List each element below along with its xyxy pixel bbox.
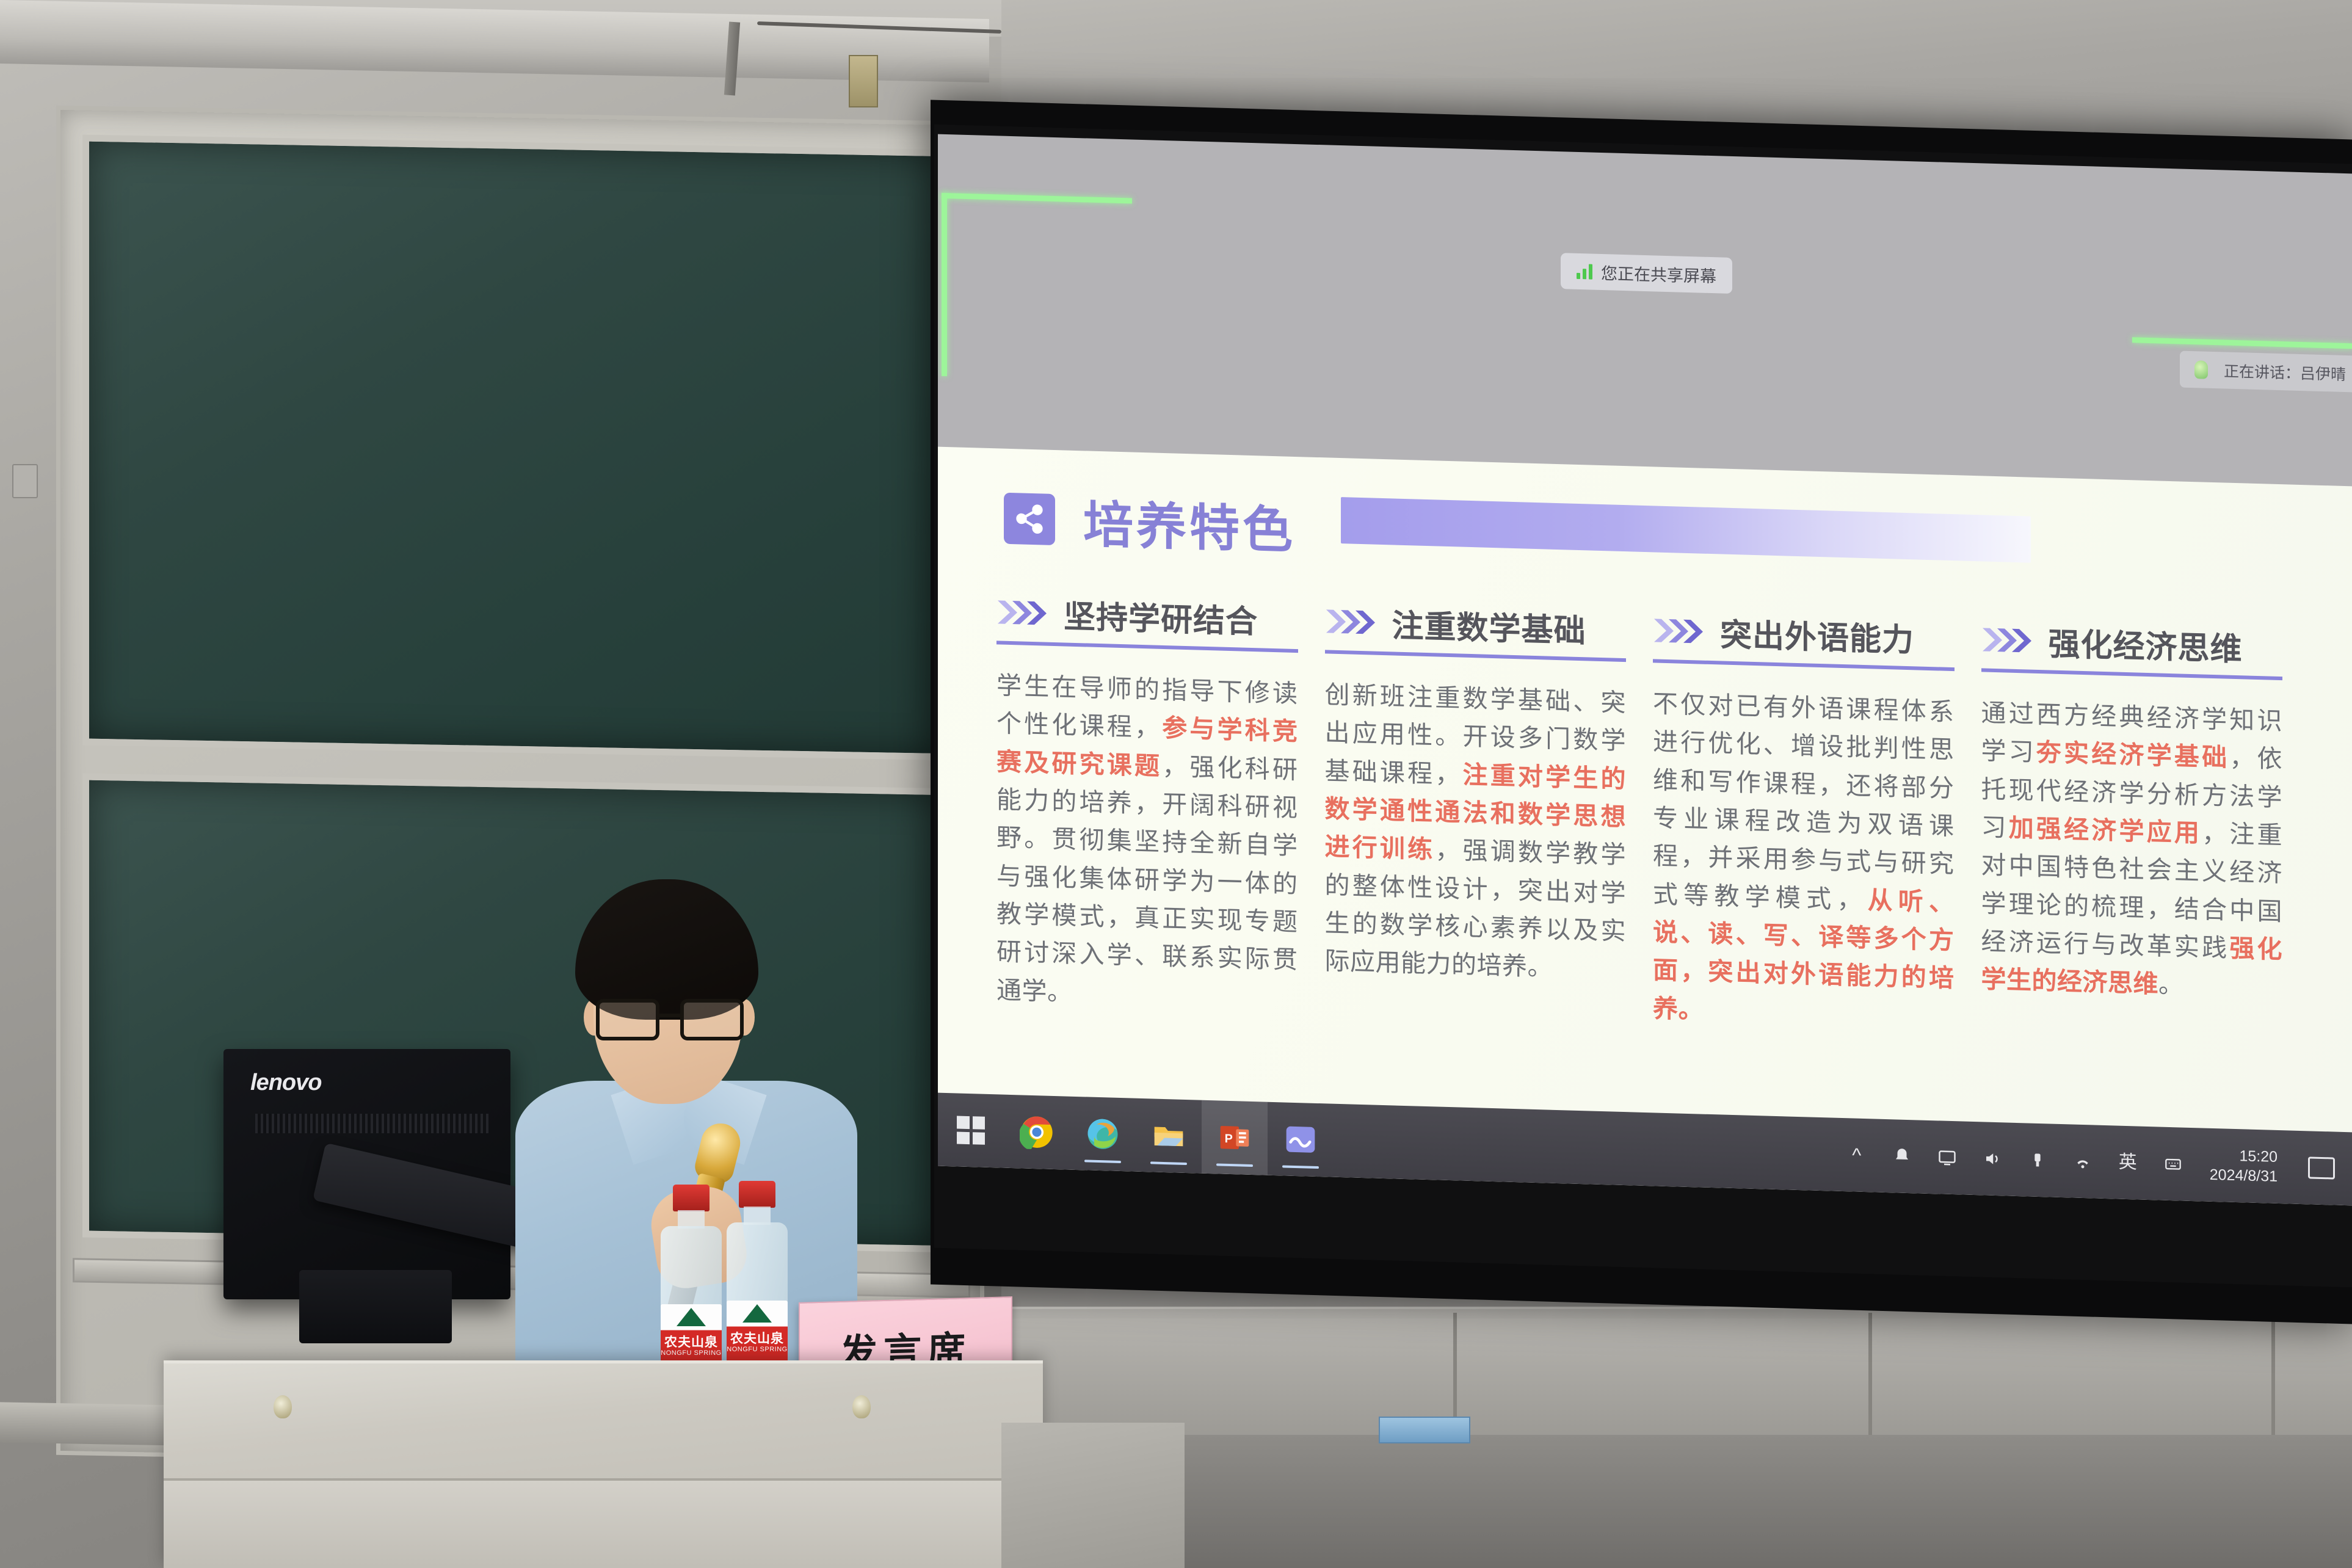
chevron-up-icon[interactable]: ^ [1845,1145,1869,1165]
start-button[interactable] [938,1093,1004,1168]
chevrons-right-icon [996,598,1050,627]
shared-screen[interactable]: 您正在共享屏幕 正在讲话：吕伊晴 培养特色 [938,134,2352,1206]
signal-bars-icon [1577,264,1592,280]
lens-left [596,999,659,1040]
podium-lock [274,1395,292,1418]
slide-column-3: 突出外语能力 不仅对已有外语课程体系进行优化、增设批判性思维和写作课程，还将部分… [1653,607,1981,1036]
podium [164,1360,1043,1568]
column-2-header: 注重数学基础 [1325,598,1627,662]
column-4-body: 通过西方经典经济学知识学习夯实经济学基础，依托现代经济学分析方法学习加强经济学应… [1981,694,2283,1006]
monitor-brand-label: lenovo [250,1070,321,1096]
floor [1038,1435,2352,1568]
usb-icon[interactable] [2025,1150,2050,1169]
edge-icon [1086,1116,1120,1152]
bottle-brand-en: NONGFU SPRING [661,1349,722,1357]
active-speaker-label: 正在讲话：吕伊晴 [2224,359,2346,385]
water-bottle: 农夫山泉 NONGFU SPRING [725,1181,789,1388]
folder-icon [1152,1118,1186,1153]
share-banner-label: 您正在共享屏幕 [1601,260,1716,287]
taskbar-item-edge[interactable] [1070,1097,1136,1172]
monitor-stand [299,1270,452,1343]
column-1-header: 坚持学研结合 [996,589,1298,653]
column-4-text-highlight-1: 夯实经济学基础 [2036,738,2229,772]
volume-icon[interactable] [1980,1149,2005,1168]
screenshot-stage: 您正在共享屏幕 正在讲话：吕伊晴 培养特色 [0,0,2352,1568]
column-2-body: 创新班注重数学基础、突出应用性。开设多门数学基础课程，注重对学生的数学通性通法和… [1325,675,1627,988]
taskbar-clock[interactable]: 15:20 2024/8/31 [2210,1145,2278,1186]
active-speaker-indicator[interactable]: 正在讲话：吕伊晴 [2180,350,2352,393]
column-3-body: 不仅对已有外语课程体系进行优化、增设批判性思维和写作课程，还将部分专业课程改造为… [1653,684,1955,1036]
display-icon[interactable] [1935,1148,1959,1167]
column-4-title: 强化经济思维 [2049,618,2243,669]
windows-logo-icon [957,1116,985,1145]
column-1-body: 学生在导师的指导下修读个性化课程，参与学科竞赛及研究课题，强化科研能力的培养，开… [996,666,1298,1017]
bottle-cap [739,1181,775,1208]
column-3-text-pre: 不仅对已有外语课程体系进行优化、增设批判性思维和写作课程，还将部分专业课程改造为… [1653,689,1955,913]
title-decoration-bar [1341,497,2031,563]
taskbar-item-file-explorer[interactable] [1136,1098,1202,1174]
column-1-text-post: ，强化科研能力的培养，开阔科研视野。贯彻集坚持全新自学与强化集体研学为一体的教学… [996,752,1298,1006]
slide-title-row: 培养特色 [1004,482,1296,562]
column-4-text-post: 。 [2158,970,2184,999]
notification-center-icon[interactable] [2308,1156,2335,1179]
column-4-header: 强化经济思维 [1981,616,2283,680]
wall-socket [12,464,38,498]
chrome-icon [1020,1114,1054,1150]
column-2-title: 注重数学基础 [1392,600,1586,651]
lens-right [680,999,744,1040]
column-3-title: 突出外语能力 [1720,609,1914,660]
column-3-header: 突出外语能力 [1653,607,1955,671]
microphone-icon [2194,360,2208,379]
slide-columns: 坚持学研结合 学生在导师的指导下修读个性化课程，参与学科竞赛及研究课题，强化科研… [996,589,2309,1045]
column-1-title: 坚持学研结合 [1064,590,1258,642]
podium-lock [852,1395,871,1418]
column-4-text-highlight-2: 加强经济学应用 [2009,814,2202,848]
bottle-brand-cn: 农夫山泉 [727,1329,788,1347]
screen-share-banner[interactable]: 您正在共享屏幕 [1561,253,1732,294]
panel-divider [1868,1313,1872,1444]
keyboard-icon[interactable] [2161,1155,2185,1173]
taskbar-item-chrome[interactable] [1004,1095,1070,1170]
slide-column-4: 强化经济思维 通过西方经典经济学知识学习夯实经济学基础，依托现代经济学分析方法学… [1981,616,2310,1045]
taskbar-item-powerpoint[interactable]: P [1202,1100,1268,1175]
panel-divider [2271,1313,2275,1444]
side-cabinet [1001,1423,1185,1568]
meeting-app-icon [1283,1122,1318,1157]
powerpoint-icon: P [1218,1120,1252,1155]
slide-column-2: 注重数学基础 创新班注重数学基础、突出应用性。开设多门数学基础课程，注重对学生的… [1325,598,1653,1027]
mountain-icon [742,1304,772,1323]
chevrons-right-icon [1325,607,1379,636]
bottle-brand-en: NONGFU SPRING [727,1346,788,1353]
taskbar-app-list: P [938,1093,1334,1177]
ime-language-icon[interactable]: 英 [2116,1153,2140,1172]
clock-date: 2024/8/31 [2210,1165,2278,1187]
taskbar-item-meeting-app[interactable] [1268,1102,1334,1177]
share-border-top-left [942,193,1132,204]
slide-column-1: 坚持学研结合 学生在导师的指导下修读个性化课程，参与学科竞赛及研究课题，强化科研… [996,589,1325,1018]
chevrons-right-icon [1981,625,2035,655]
chalkboard-panel-upper [82,134,962,760]
slide-title: 培养特色 [1083,484,1296,562]
bottle-cap [673,1185,710,1211]
powerpoint-slide[interactable]: 培养特色 坚持学研结合 [938,447,2352,1206]
mountain-icon [677,1308,706,1326]
bottle-brand-cn: 农夫山泉 [661,1332,722,1351]
chevrons-right-icon [1653,616,1707,645]
bell-icon[interactable] [1890,1147,1914,1166]
podium-drawer [164,1478,1043,1568]
eyeglasses [592,999,747,1042]
monitor-vent [255,1114,488,1133]
clock-time: 15:20 [2239,1146,2278,1167]
floor-blue-box [1379,1417,1470,1443]
system-tray: ^ 英 [1845,1118,2352,1205]
network-icon[interactable] [2071,1152,2095,1171]
junction-box [849,55,878,107]
svg-text:P: P [1225,1132,1233,1145]
share-network-icon [1004,492,1055,545]
share-border-left [942,193,947,376]
glasses-bridge [659,1014,681,1017]
share-border-top-right [2132,337,2352,349]
